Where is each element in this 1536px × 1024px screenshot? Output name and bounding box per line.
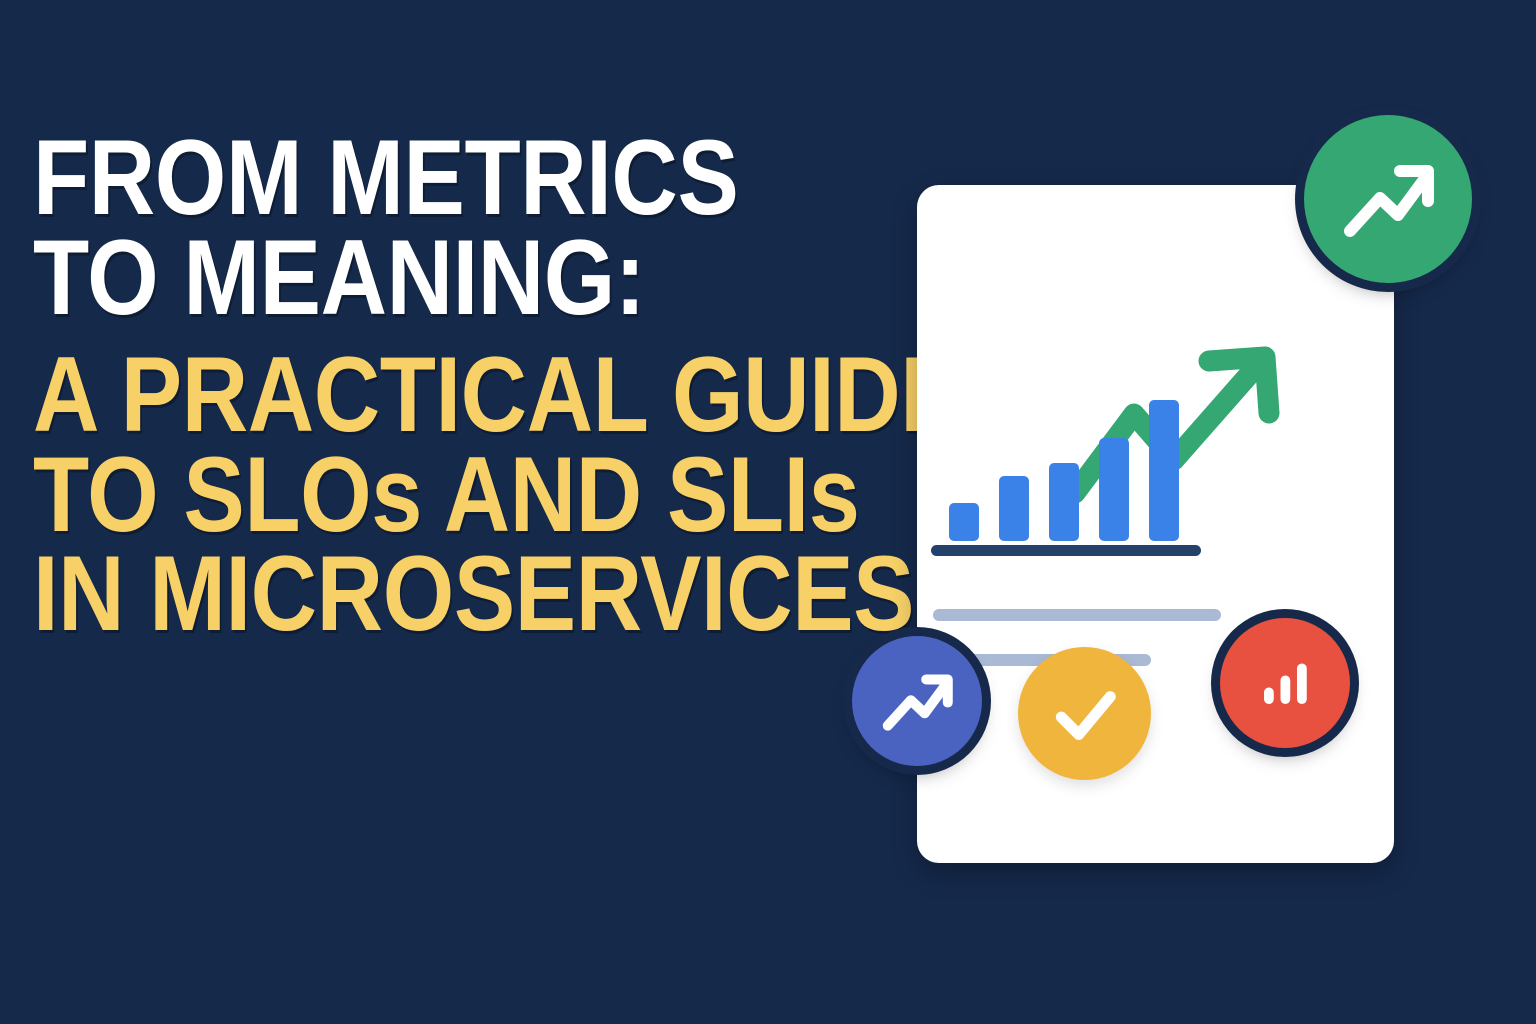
report-document-card — [917, 185, 1394, 863]
trending-up-icon — [1336, 147, 1440, 251]
title-line-4: TO SLOs AND SLIs — [33, 445, 755, 545]
page-title: FROM METRICS TO MEANING: A PRACTICAL GUI… — [33, 128, 873, 644]
trending-up-icon — [877, 661, 957, 741]
chart-bar — [1099, 438, 1129, 541]
check-icon — [1044, 673, 1126, 755]
title-line-5: IN MICROSERVICES — [33, 544, 755, 644]
chart-bar — [999, 476, 1029, 541]
badge-bar-chart-red — [1220, 618, 1350, 748]
title-line-2: TO MEANING: — [33, 228, 755, 328]
chart-bar — [1049, 463, 1079, 541]
chart-bar — [949, 503, 979, 541]
chart-bar — [1149, 400, 1179, 541]
title-line-3: A PRACTICAL GUIDE — [33, 345, 755, 445]
poster-canvas: FROM METRICS TO MEANING: A PRACTICAL GUI… — [0, 0, 1536, 1024]
bar-chart-icon — [1246, 644, 1324, 722]
badge-success-check — [1018, 647, 1151, 780]
title-line-1: FROM METRICS — [33, 128, 755, 228]
badge-growth-trend-blue — [852, 636, 982, 766]
hero-illustration — [840, 90, 1480, 910]
document-text-line — [933, 609, 1221, 621]
badge-growth-trend-green — [1304, 115, 1472, 283]
chart-baseline-axis — [931, 545, 1201, 556]
trending-up-arrow-icon — [1057, 335, 1307, 515]
